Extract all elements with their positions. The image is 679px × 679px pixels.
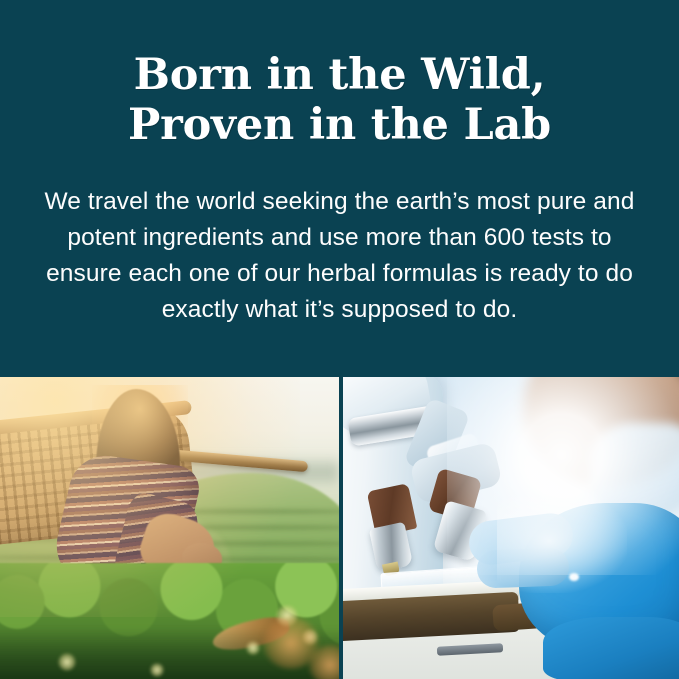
bokeh-highlight (246, 641, 260, 655)
lab-microscope-photo (343, 377, 679, 679)
body-line-4: exactly what it’s supposed to do. (0, 292, 679, 328)
glove-lower (543, 617, 679, 679)
headline-line-2: Proven in the Lab (0, 100, 679, 150)
photo-strip (0, 377, 679, 679)
glove-finger-lower (476, 547, 569, 588)
brand-promise-banner: Born in the Wild, Proven in the Lab We t… (0, 0, 679, 679)
body-line-3: ensure each one of our herbal formulas i… (0, 256, 679, 292)
specular-highlight (569, 573, 579, 581)
body-line-2: potent ingredients and use more than 600… (0, 220, 679, 256)
text-panel: Born in the Wild, Proven in the Lab We t… (0, 0, 679, 377)
bokeh-highlight (58, 653, 76, 671)
page-title: Born in the Wild, Proven in the Lab (0, 50, 679, 150)
tea-harvester-field-photo (0, 377, 339, 679)
body-paragraph: We travel the world seeking the earth’s … (0, 184, 679, 328)
hair-rim-light (92, 385, 188, 465)
bokeh-highlight (150, 663, 164, 677)
headline-line-1: Born in the Wild, (0, 50, 679, 100)
body-line-1: We travel the world seeking the earth’s … (0, 184, 679, 220)
